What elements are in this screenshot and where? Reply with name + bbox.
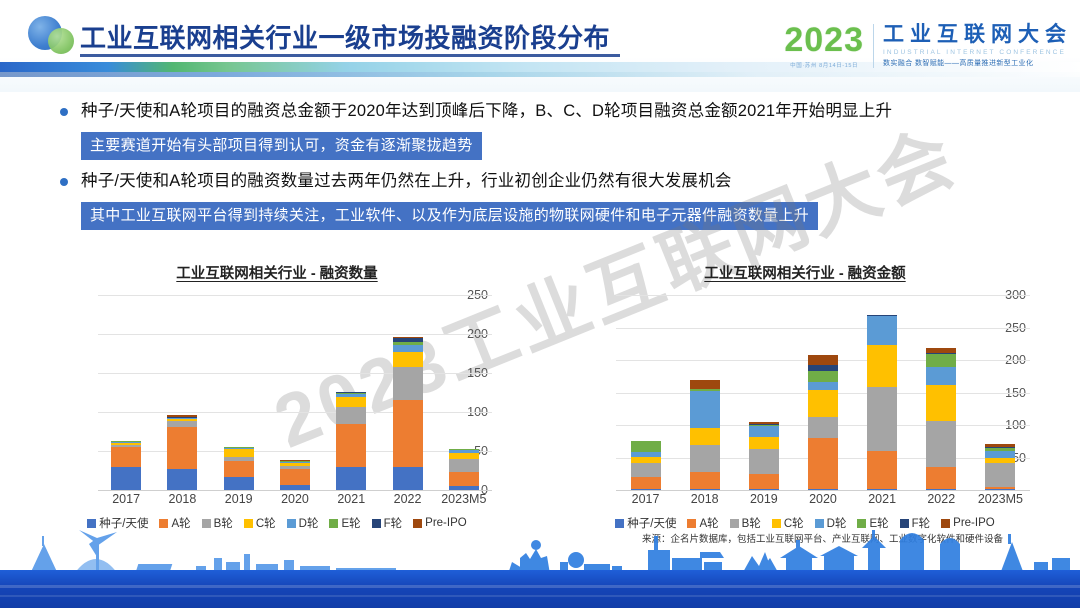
- stacked-bar[interactable]: [167, 415, 197, 490]
- bullet-item: 种子/天使和A轮项目的融资总金额于2020年达到顶峰后下降，B、C、D轮项目融资…: [60, 100, 1035, 124]
- stacked-bar[interactable]: [867, 315, 897, 490]
- chart-legend: 种子/天使A轮B轮C轮D轮E轮F轮Pre-IPO: [580, 515, 1030, 531]
- bar-segment: [926, 354, 956, 366]
- bar-segment: [393, 352, 423, 367]
- brand-name-cn: 工业互联网大会: [883, 24, 1072, 46]
- bar-segment: [749, 449, 779, 474]
- x-axis-tick-label: 2021: [323, 492, 379, 506]
- legend-label: A轮: [171, 515, 190, 531]
- bar-cell: [436, 295, 492, 490]
- chart-x-axis: 2017201820192020202120222023M5: [62, 490, 492, 508]
- chart-plot-area: -50100150200250300: [580, 295, 1030, 490]
- x-axis-tick-label: 2017: [616, 492, 675, 506]
- x-axis-tick-label: 2023M5: [971, 492, 1030, 506]
- legend-label: Pre-IPO: [425, 517, 467, 529]
- legend-item[interactable]: F轮: [900, 515, 931, 531]
- x-axis-tick-label: 2021: [853, 492, 912, 506]
- bullet-highlight: 其中工业互联网平台得到持续关注，工业软件、以及作为底层设施的物联网硬件和电子元器…: [81, 202, 818, 230]
- bar-cell: [853, 295, 912, 490]
- legend-swatch: [202, 519, 211, 528]
- legend-swatch: [687, 519, 696, 528]
- bar-group-container: [98, 295, 492, 490]
- bar-segment: [393, 345, 423, 352]
- brand-slogan: 数实融合 数智赋能——高质量推进新型工业化: [883, 58, 1072, 68]
- bar-segment: [224, 477, 254, 490]
- legend-label: B轮: [214, 515, 233, 531]
- legend-swatch: [900, 519, 909, 528]
- page-title: 工业互联网相关行业一级市场投融资阶段分布: [80, 18, 610, 55]
- bar-segment: [167, 469, 197, 490]
- bar-segment: [808, 390, 838, 417]
- bar-segment: [690, 428, 720, 445]
- bar-cell: [793, 295, 852, 490]
- legend-swatch: [941, 519, 950, 528]
- stacked-bar[interactable]: [393, 337, 423, 490]
- chart-financing-count: 工业互联网相关行业 - 融资数量 050100150200250 2017201…: [62, 262, 492, 531]
- bar-segment: [690, 445, 720, 473]
- legend-swatch: [857, 519, 866, 528]
- legend-swatch: [87, 519, 96, 528]
- bar-segment: [393, 400, 423, 467]
- bar-segment: [808, 355, 838, 365]
- stacked-bar[interactable]: [631, 441, 661, 490]
- bar-segment: [224, 461, 254, 477]
- bar-segment: [926, 385, 956, 421]
- footer-sea-stripe: [0, 585, 1080, 588]
- legend-label: 种子/天使: [99, 515, 148, 531]
- bar-segment: [926, 421, 956, 467]
- brand-year: 2023: [784, 23, 864, 57]
- legend-item[interactable]: A轮: [159, 515, 190, 531]
- legend-label: A轮: [699, 515, 718, 531]
- legend-item[interactable]: C轮: [772, 515, 804, 531]
- chart-title: 工业互联网相关行业 - 融资数量: [62, 262, 492, 283]
- legend-item[interactable]: E轮: [857, 515, 888, 531]
- bar-segment: [631, 441, 661, 452]
- legend-label: F轮: [384, 515, 403, 531]
- bar-segment: [393, 367, 423, 401]
- legend-swatch: [244, 519, 253, 528]
- footer-sea-stripe-secondary: [0, 595, 1080, 597]
- bullet-dot-icon: [60, 178, 68, 186]
- bullet-item: 种子/天使和A轮项目的融资数量过去两年仍然在上升，行业初创企业仍然有很大发展机会: [60, 170, 1035, 194]
- bar-segment: [336, 424, 366, 468]
- legend-label: 种子/天使: [627, 515, 676, 531]
- legend-swatch: [329, 519, 338, 528]
- x-axis-tick-label: 2019: [734, 492, 793, 506]
- x-axis-tick-label: 2020: [267, 492, 323, 506]
- legend-item[interactable]: 种子/天使: [87, 515, 148, 531]
- legend-item[interactable]: E轮: [329, 515, 360, 531]
- legend-item[interactable]: Pre-IPO: [413, 517, 467, 529]
- bar-cell: [912, 295, 971, 490]
- bar-group-container: [616, 295, 1030, 490]
- logo-green-circle-icon: [48, 28, 74, 54]
- legend-swatch: [413, 519, 422, 528]
- bar-segment: [449, 472, 479, 486]
- legend-label: Pre-IPO: [953, 517, 995, 529]
- legend-item[interactable]: A轮: [687, 515, 718, 531]
- stacked-bar[interactable]: [111, 441, 141, 490]
- bar-segment: [167, 427, 197, 469]
- bullet-list: 种子/天使和A轮项目的融资总金额于2020年达到顶峰后下降，B、C、D轮项目融资…: [60, 100, 1035, 236]
- legend-label: F轮: [912, 515, 931, 531]
- legend-swatch: [772, 519, 781, 528]
- brand-year-subtitle: 中国·苏州 8月14日-15日: [790, 61, 858, 69]
- page-footer: [0, 530, 1080, 608]
- legend-swatch: [815, 519, 824, 528]
- bar-segment: [631, 477, 661, 489]
- bar-segment: [749, 437, 779, 449]
- bar-cell: [971, 295, 1030, 490]
- bar-segment: [449, 459, 479, 472]
- bar-segment: [867, 316, 897, 345]
- bar-segment: [690, 391, 720, 428]
- legend-item[interactable]: C轮: [244, 515, 276, 531]
- legend-item[interactable]: F轮: [372, 515, 403, 531]
- bullet-text: 种子/天使和A轮项目的融资总金额于2020年达到顶峰后下降，B、C、D轮项目融资…: [81, 100, 892, 124]
- bar-cell: [154, 295, 210, 490]
- legend-swatch: [159, 519, 168, 528]
- stacked-bar[interactable]: [749, 422, 779, 490]
- legend-label: B轮: [742, 515, 761, 531]
- legend-item[interactable]: D轮: [287, 515, 319, 531]
- bullet-text: 种子/天使和A轮项目的融资数量过去两年仍然在上升，行业初创企业仍然有很大发展机会: [81, 170, 732, 194]
- bar-segment: [926, 467, 956, 488]
- chart-x-axis: 2017201820192020202120222023M5: [580, 490, 1030, 508]
- bar-cell: [675, 295, 734, 490]
- bullet-dot-icon: [60, 108, 68, 116]
- brand-year-block: 2023 中国·苏州 8月14日-15日: [784, 23, 864, 69]
- legend-label: C轮: [256, 515, 276, 531]
- page-header: 工业互联网相关行业一级市场投融资阶段分布 2023 中国·苏州 8月14日-15…: [0, 0, 1080, 92]
- stacked-bar[interactable]: [690, 380, 720, 490]
- x-axis-tick-label: 2017: [98, 492, 154, 506]
- stacked-bar[interactable]: [449, 449, 479, 490]
- page-title-underline: [80, 54, 620, 57]
- legend-swatch: [730, 519, 739, 528]
- stacked-bar[interactable]: [280, 460, 310, 490]
- brand-name-block: 工业互联网大会 INDUSTRIAL INTERNET CONFERENCE 数…: [883, 24, 1072, 67]
- chart-legend: 种子/天使A轮B轮C轮D轮E轮F轮Pre-IPO: [62, 515, 492, 531]
- bar-segment: [808, 371, 838, 381]
- stacked-bar[interactable]: [985, 444, 1015, 490]
- bar-cell: [323, 295, 379, 490]
- bar-cell: [211, 295, 267, 490]
- legend-label: E轮: [869, 515, 888, 531]
- legend-label: D轮: [299, 515, 319, 531]
- stacked-bar[interactable]: [336, 392, 366, 490]
- legend-item[interactable]: B轮: [730, 515, 761, 531]
- bar-segment: [808, 382, 838, 390]
- bar-segment: [336, 467, 366, 490]
- bar-segment: [690, 472, 720, 488]
- stacked-bar[interactable]: [224, 447, 254, 490]
- bullet-highlight: 主要赛道开始有头部项目得到认可，资金有逐渐聚拢趋势: [81, 132, 482, 160]
- legend-item[interactable]: 种子/天使: [615, 515, 676, 531]
- bar-segment: [926, 367, 956, 385]
- bar-segment: [808, 438, 838, 489]
- chart-financing-amount: 工业互联网相关行业 - 融资金额 -50100150200250300 2017…: [580, 262, 1030, 531]
- logo-icon: [22, 12, 76, 58]
- bar-segment: [867, 451, 897, 489]
- chart-plot-area: 050100150200250: [62, 295, 492, 490]
- bar-cell: [616, 295, 675, 490]
- legend-label: C轮: [784, 515, 804, 531]
- bar-segment: [280, 469, 310, 485]
- bar-segment: [690, 380, 720, 389]
- x-axis-tick-label: 2023M5: [436, 492, 492, 506]
- bar-cell: [734, 295, 793, 490]
- x-axis-tick-label: 2022: [379, 492, 435, 506]
- x-axis-tick-label: 2020: [793, 492, 852, 506]
- stacked-bar[interactable]: [808, 355, 838, 490]
- bar-cell: [267, 295, 323, 490]
- brand-divider: [873, 24, 874, 68]
- bar-cell: [379, 295, 435, 490]
- legend-label: E轮: [341, 515, 360, 531]
- bar-segment: [336, 407, 366, 424]
- bar-segment: [867, 345, 897, 387]
- conference-brand-lockup: 2023 中国·苏州 8月14日-15日 工业互联网大会 INDUSTRIAL …: [784, 16, 1072, 76]
- bar-segment: [393, 467, 423, 490]
- bar-segment: [336, 397, 366, 406]
- legend-item[interactable]: D轮: [815, 515, 847, 531]
- legend-item[interactable]: B轮: [202, 515, 233, 531]
- footer-sea-band: [0, 570, 1080, 608]
- legend-item[interactable]: Pre-IPO: [941, 517, 995, 529]
- x-axis-tick-label: 2019: [211, 492, 267, 506]
- x-axis-tick-label: 2022: [912, 492, 971, 506]
- bar-segment: [111, 467, 141, 490]
- bar-segment: [111, 447, 141, 467]
- chart-title: 工业互联网相关行业 - 融资金额: [580, 262, 1030, 283]
- bar-segment: [985, 463, 1015, 486]
- brand-name-en: INDUSTRIAL INTERNET CONFERENCE: [883, 49, 1072, 56]
- city-skyline-illustration: [0, 530, 1080, 574]
- bar-segment: [808, 417, 838, 438]
- bar-segment: [631, 463, 661, 477]
- bar-segment: [749, 426, 779, 436]
- bar-segment: [224, 449, 254, 458]
- legend-swatch: [372, 519, 381, 528]
- bar-segment: [985, 451, 1015, 458]
- legend-swatch: [615, 519, 624, 528]
- stacked-bar[interactable]: [926, 348, 956, 490]
- x-axis-tick-label: 2018: [154, 492, 210, 506]
- bar-segment: [867, 387, 897, 451]
- legend-swatch: [287, 519, 296, 528]
- legend-label: D轮: [827, 515, 847, 531]
- x-axis-tick-label: 2018: [675, 492, 734, 506]
- bar-segment: [749, 474, 779, 489]
- bar-cell: [98, 295, 154, 490]
